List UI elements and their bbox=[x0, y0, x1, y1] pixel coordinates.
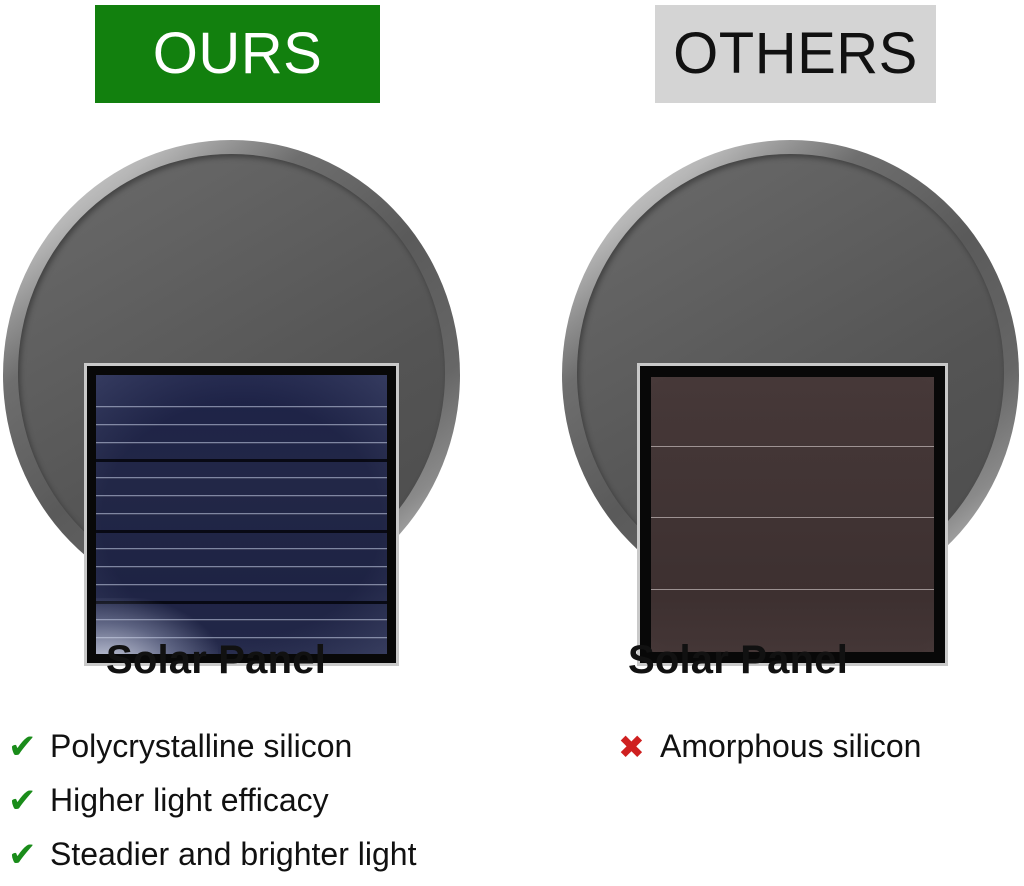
solar-panel-ours bbox=[84, 363, 399, 666]
banner-others: OTHERS bbox=[655, 5, 936, 103]
panel-grid-lines-others bbox=[651, 377, 934, 652]
lamp-housing-ours bbox=[3, 140, 460, 610]
feature-item: ✖ Amorphous silicon bbox=[618, 724, 1024, 770]
banner-ours: OURS bbox=[95, 5, 380, 103]
product-caption-others: Solar Panel bbox=[512, 638, 1024, 683]
lamp-housing-others bbox=[562, 140, 1019, 610]
check-icon: ✔ bbox=[8, 730, 50, 764]
solar-panel-others bbox=[637, 363, 948, 666]
feature-list-others: ✖ Amorphous silicon bbox=[618, 724, 1024, 778]
feature-list-ours: ✔ Polycrystalline silicon ✔ Higher light… bbox=[8, 724, 512, 886]
product-caption-ours: Solar Panel bbox=[0, 638, 512, 683]
panel-bezel-ours bbox=[87, 366, 396, 663]
feature-label: Higher light efficacy bbox=[50, 783, 329, 818]
panel-cell-polycrystalline bbox=[96, 375, 387, 654]
check-icon: ✔ bbox=[8, 784, 50, 818]
feature-item: ✔ Polycrystalline silicon bbox=[8, 724, 512, 770]
feature-item: ✔ Steadier and brighter light bbox=[8, 832, 512, 878]
feature-label: Steadier and brighter light bbox=[50, 837, 416, 872]
panel-cell-amorphous bbox=[651, 377, 934, 652]
panel-bezel-others bbox=[640, 366, 945, 663]
check-icon: ✔ bbox=[8, 838, 50, 872]
cross-icon: ✖ bbox=[618, 731, 660, 763]
comparison-column-ours: OURS bbox=[0, 0, 512, 886]
feature-label: Polycrystalline silicon bbox=[50, 729, 352, 764]
feature-item: ✔ Higher light efficacy bbox=[8, 778, 512, 824]
panel-grid-lines-ours bbox=[96, 375, 387, 654]
feature-label: Amorphous silicon bbox=[660, 729, 921, 764]
comparison-stage: OURS bbox=[0, 0, 1024, 886]
